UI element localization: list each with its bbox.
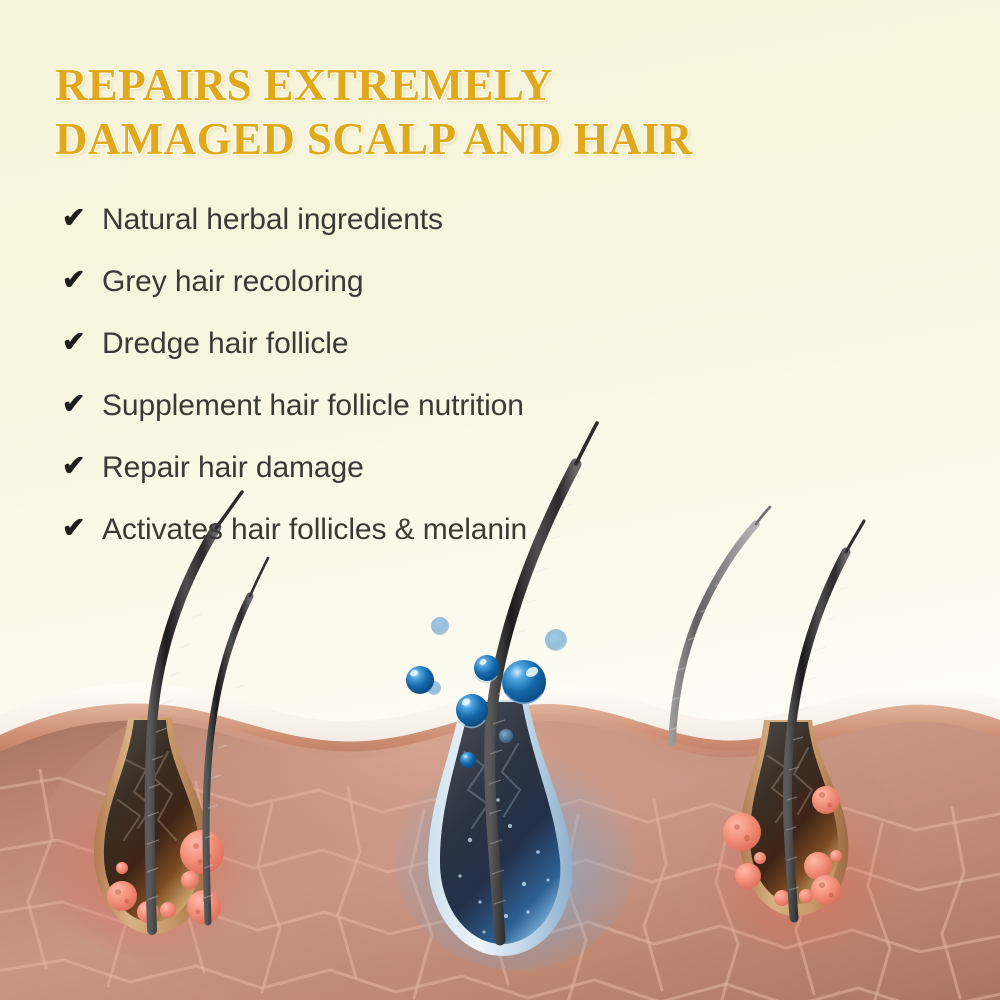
page-title: REPAIRS EXTREMELY DAMAGED SCALP AND HAIR xyxy=(55,58,935,166)
benefits-list: ✔ Natural herbal ingredients ✔ Grey hair… xyxy=(62,205,722,577)
check-icon: ✔ xyxy=(62,514,102,542)
list-item: ✔ Activates hair follicles & melanin xyxy=(62,515,722,577)
benefit-label: Grey hair recoloring xyxy=(102,267,363,297)
check-icon: ✔ xyxy=(62,452,102,480)
check-icon: ✔ xyxy=(62,328,102,356)
list-item: ✔ Natural herbal ingredients xyxy=(62,205,722,267)
benefit-label: Repair hair damage xyxy=(102,453,364,483)
benefit-label: Natural herbal ingredients xyxy=(102,205,443,235)
benefit-label: Activates hair follicles & melanin xyxy=(102,515,527,545)
list-item: ✔ Repair hair damage xyxy=(62,453,722,515)
list-item: ✔ Dredge hair follicle xyxy=(62,329,722,391)
benefit-label: Dredge hair follicle xyxy=(102,329,348,359)
list-item: ✔ Grey hair recoloring xyxy=(62,267,722,329)
benefit-label: Supplement hair follicle nutrition xyxy=(102,391,524,421)
check-icon: ✔ xyxy=(62,204,102,232)
list-item: ✔ Supplement hair follicle nutrition xyxy=(62,391,722,453)
product-benefits-poster: REPAIRS EXTREMELY DAMAGED SCALP AND HAIR… xyxy=(0,0,1000,1000)
check-icon: ✔ xyxy=(62,266,102,294)
check-icon: ✔ xyxy=(62,390,102,418)
